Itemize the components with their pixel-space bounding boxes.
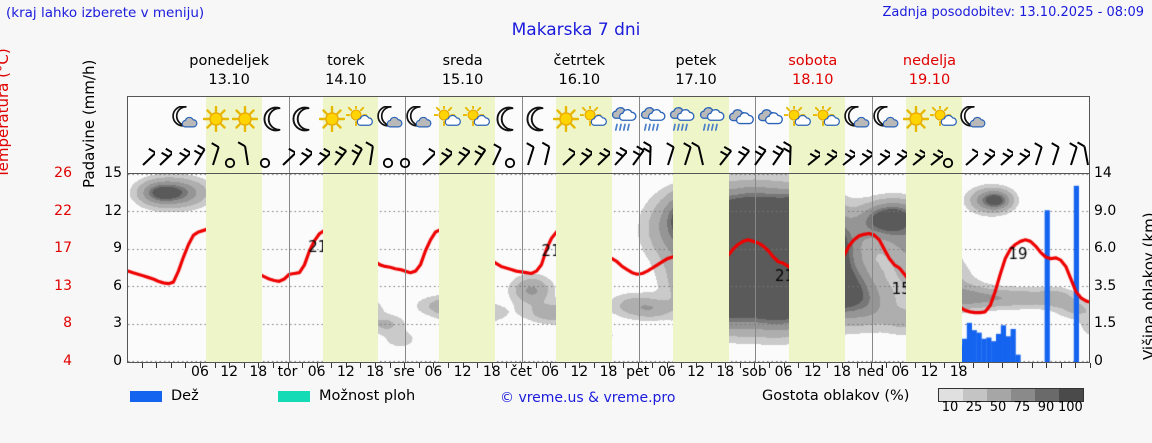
x-tick-mark <box>302 363 303 368</box>
x-tick-mark <box>769 363 770 368</box>
x-tick-mark <box>404 363 405 368</box>
x-tick-mark <box>1090 363 1091 368</box>
day-date: 18.10 <box>754 71 871 90</box>
day-header-nedelja: nedelja19.10 <box>871 52 988 92</box>
x-tick-mark <box>1017 363 1018 368</box>
day-separator <box>755 174 756 362</box>
x-tick-mark <box>360 363 361 368</box>
daylight-band <box>906 174 962 362</box>
x-tick-mark <box>390 363 391 368</box>
x-tick-mark <box>273 363 274 368</box>
tempticks-label: 17 <box>38 240 72 256</box>
precticks-label: 3 <box>96 315 122 331</box>
cloud-density-tick: 25 <box>962 400 986 415</box>
x-tick-mark <box>667 363 668 368</box>
day-header-četrtek: četrtek16.10 <box>521 52 638 92</box>
x-tick-mark <box>827 363 828 368</box>
cloudticks-label: 1.5 <box>1094 315 1128 331</box>
x-tick-mark <box>375 363 376 368</box>
precticks-label: 6 <box>96 278 122 294</box>
x-tick-mark <box>813 363 814 368</box>
day-date: 17.10 <box>638 71 755 90</box>
day-name: sobota <box>754 52 871 71</box>
daylight-band <box>323 174 379 362</box>
x-tick-mark <box>521 363 522 368</box>
day-header-ponedeljek: ponedeljek13.10 <box>171 52 288 92</box>
x-tick-mark <box>740 363 741 368</box>
cloudticks-label: 0 <box>1094 353 1128 369</box>
day-separator <box>289 174 290 362</box>
x-tick-mark <box>550 363 551 368</box>
x-tick-mark <box>944 363 945 368</box>
x-tick-mark <box>609 363 610 368</box>
location-menu-note[interactable]: (kraj lahko izberete v meniju) <box>6 5 204 21</box>
x-tick-mark <box>171 363 172 368</box>
x-tick-mark <box>696 363 697 368</box>
day-name: torek <box>288 52 405 71</box>
day-header-sobota: sobota18.10 <box>754 52 871 92</box>
x-tick-mark <box>711 363 712 368</box>
x-tick-mark <box>288 363 289 368</box>
moon-cloud-icon <box>957 97 991 140</box>
x-tick-mark <box>317 363 318 368</box>
x-tick-mark <box>448 363 449 368</box>
tempticks-label: 4 <box>38 353 72 369</box>
x-tick-mark <box>331 363 332 368</box>
x-tick-mark <box>638 363 639 368</box>
day-name: ponedeljek <box>171 52 288 71</box>
day-separator <box>872 174 873 362</box>
day-name: sreda <box>404 52 521 71</box>
x-tick-mark <box>681 363 682 368</box>
x-tick-mark <box>725 363 726 368</box>
tempticks-label: 22 <box>38 203 72 219</box>
page-title: Makarska 7 dni <box>0 20 1152 40</box>
x-tick-mark <box>506 363 507 368</box>
legend-rain: Dež <box>130 388 199 404</box>
x-tick-mark <box>988 363 989 368</box>
x-tick-mark <box>244 363 245 368</box>
cloud-density-tick: 75 <box>1010 400 1034 415</box>
day-date: 14.10 <box>288 71 405 90</box>
x-tick-mark <box>477 363 478 368</box>
precticks-label: 12 <box>96 203 122 219</box>
x-tick-mark <box>258 363 259 368</box>
cloudticks-label: 14 <box>1094 165 1128 181</box>
x-tick-mark <box>142 363 143 368</box>
x-tick-mark <box>1032 363 1033 368</box>
x-tick-mark <box>871 363 872 368</box>
x-tick-mark <box>1061 363 1062 368</box>
cloudticks-label: 6.0 <box>1094 240 1128 256</box>
daylight-band <box>206 174 262 362</box>
cloud-density-tick: 90 <box>1034 400 1058 415</box>
x-tick-mark <box>565 363 566 368</box>
daylight-band <box>789 174 845 362</box>
x-tick-mark <box>579 363 580 368</box>
day-header-petek: petek17.10 <box>638 52 755 92</box>
x-tick-mark <box>959 363 960 368</box>
precticks-label: 9 <box>96 240 122 256</box>
x-tick-mark <box>930 363 931 368</box>
x-tick-mark <box>900 363 901 368</box>
x-tick-mark <box>886 363 887 368</box>
x-tick-mark <box>200 363 201 368</box>
x-tick-mark <box>623 363 624 368</box>
legend-showers: Možnost ploh <box>278 388 415 404</box>
precticks-label: 15 <box>96 165 122 181</box>
x-tick-mark <box>973 363 974 368</box>
daylight-band <box>673 174 729 362</box>
day-header-torek: torek14.10 <box>288 52 405 92</box>
x-tick-mark <box>842 363 843 368</box>
cloud-density-ticks: 1025507590100 <box>938 400 1082 415</box>
x-tick-mark <box>215 363 216 368</box>
cloud-density-label: Gostota oblakov (%) <box>762 388 909 404</box>
showers-legend-label: Možnost ploh <box>319 388 415 404</box>
wind-barb-band <box>127 139 1090 173</box>
credit-link[interactable]: © vreme.us & vreme.pro <box>500 390 675 406</box>
day-name: četrtek <box>521 52 638 71</box>
x-tick-mark <box>1075 363 1076 368</box>
temperature-axis-title: Temperatura (°C) <box>0 48 12 178</box>
tempticks-label: 8 <box>38 315 72 331</box>
day-header-sreda: sreda15.10 <box>404 52 521 92</box>
rain-color-swatch <box>130 391 162 402</box>
showers-color-swatch <box>278 391 310 402</box>
daylight-band <box>556 174 612 362</box>
x-tick-mark <box>915 363 916 368</box>
day-name: nedelja <box>871 52 988 71</box>
x-tick-mark <box>346 363 347 368</box>
main-chart-area <box>127 173 1090 363</box>
tempticks-label: 26 <box>38 165 72 181</box>
x-tick-mark <box>754 363 755 368</box>
weather-forecast-page: (kraj lahko izberete v meniju) Makarska … <box>0 0 1152 443</box>
cloudticks-label: 9.0 <box>1094 203 1128 219</box>
weather-icon-band <box>127 96 1090 139</box>
tempticks-label: 13 <box>38 278 72 294</box>
cloud-density-tick: 100 <box>1058 400 1082 415</box>
x-tick-mark <box>652 363 653 368</box>
day-date: 13.10 <box>171 71 288 90</box>
x-tick-mark <box>419 363 420 368</box>
day-date: 16.10 <box>521 71 638 90</box>
cloud-height-axis-title: Višina oblakov (km) <box>1140 212 1152 360</box>
day-date: 15.10 <box>404 71 521 90</box>
x-tick-mark <box>185 363 186 368</box>
x-tick-mark <box>798 363 799 368</box>
day-date: 19.10 <box>871 71 988 90</box>
daylight-band <box>439 174 495 362</box>
x-tick-mark <box>463 363 464 368</box>
x-tick-mark <box>156 363 157 368</box>
x-tick-mark <box>857 363 858 368</box>
x-tick-mark <box>492 363 493 368</box>
x-tick-mark <box>433 363 434 368</box>
day-separator <box>639 174 640 362</box>
cloud-density-scale: 1025507590100 <box>938 386 1084 405</box>
rain-legend-label: Dež <box>171 388 199 404</box>
x-tick-mark <box>229 363 230 368</box>
cloud-density-tick: 50 <box>986 400 1010 415</box>
cloud-density-tick: 10 <box>938 400 962 415</box>
cloudticks-label: 3.5 <box>1094 278 1128 294</box>
day-name: petek <box>638 52 755 71</box>
last-updated: Zadnja posodobitev: 13.10.2025 - 08:09 <box>882 5 1144 20</box>
x-tick-mark <box>1046 363 1047 368</box>
day-separator <box>405 174 406 362</box>
x-tick-mark <box>594 363 595 368</box>
x-tick-mark <box>1002 363 1003 368</box>
day-separator <box>522 174 523 362</box>
precticks-label: 0 <box>96 353 122 369</box>
x-tick-mark <box>784 363 785 368</box>
x-tick-mark <box>536 363 537 368</box>
